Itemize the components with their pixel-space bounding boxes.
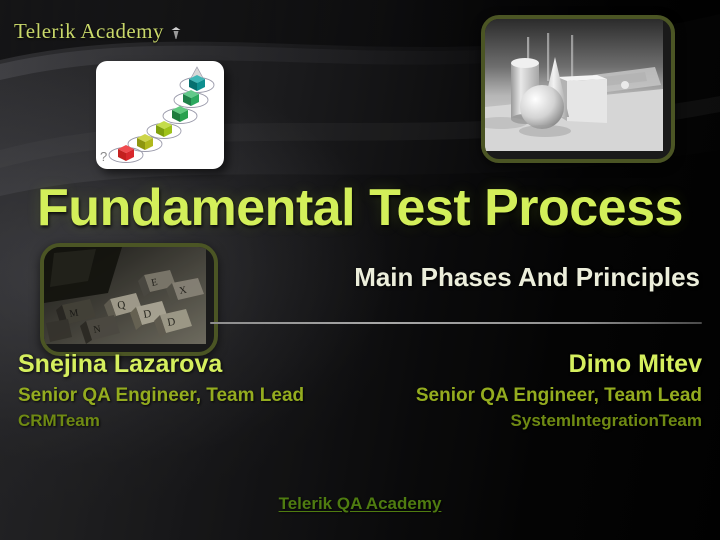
- presenter-team: CRMTeam: [18, 410, 304, 433]
- geometric-solids-photo: [481, 15, 675, 163]
- ascending-cube-staircase-diagram: ?: [96, 61, 224, 169]
- presenter-right: Dimo Mitev Senior QA Engineer, Team Lead…: [416, 350, 702, 433]
- page-subtitle: Main Phases And Principles: [354, 262, 700, 293]
- page-title: Fundamental Test Process: [0, 178, 720, 238]
- telerik-qa-academy-link[interactable]: Telerik QA Academy: [0, 494, 720, 514]
- horizontal-divider: [210, 322, 702, 324]
- presenter-team: SystemIntegrationTeam: [416, 410, 702, 433]
- flowchart-card: ?: [96, 61, 224, 169]
- presenter-name: Dimo Mitev: [416, 350, 702, 380]
- logo-mark-icon: [170, 26, 182, 40]
- presenter-role: Senior QA Engineer, Team Lead: [416, 383, 702, 409]
- presenter-role: Senior QA Engineer, Team Lead: [18, 383, 304, 409]
- presenter-left: Snejina Lazarova Senior QA Engineer, Tea…: [18, 350, 304, 433]
- logo-text: Telerik Academy: [14, 19, 164, 43]
- presenter-name: Snejina Lazarova: [18, 350, 304, 380]
- presenters-section: Snejina Lazarova Senior QA Engineer, Tea…: [0, 350, 720, 433]
- cube-olive: [137, 134, 153, 150]
- cube-yellow-green: [156, 121, 172, 137]
- question-mark-label: ?: [100, 149, 107, 164]
- cube-green: [172, 106, 188, 122]
- presentation-slide: Telerik Academy: [0, 0, 720, 540]
- telerik-academy-logo: Telerik Academy: [14, 19, 180, 44]
- cube-red: [118, 145, 134, 161]
- letterpress-letter-blocks-photo: Q D D E X M N: [40, 243, 218, 356]
